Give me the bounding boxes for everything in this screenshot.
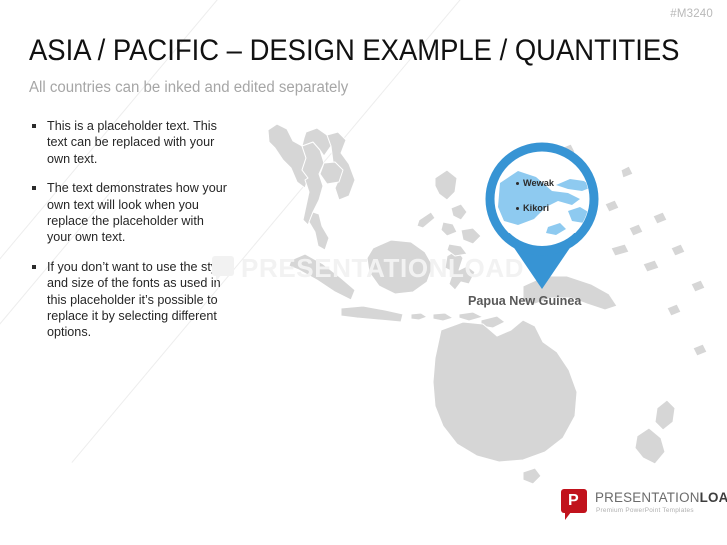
list-item-text: The text demonstrates how your own text … (47, 181, 227, 244)
asia-pacific-map[interactable] (205, 108, 727, 508)
bullet-square-icon (32, 124, 36, 128)
presentationload-logo[interactable]: P PRESENTATIONLOAD® Premium PowerPoint T… (561, 487, 721, 523)
city-label: Kikori (523, 203, 549, 213)
city-dot-icon (516, 182, 519, 185)
city-dot-icon (516, 207, 519, 210)
bullet-square-icon (32, 265, 36, 269)
city-marker-kikori[interactable]: Kikori (516, 203, 549, 213)
logo-wordmark: PRESENTATIONLOAD® (595, 490, 727, 505)
list-item-text: If you don’t want to use the style and s… (47, 260, 227, 340)
list-item[interactable]: If you don’t want to use the style and s… (31, 259, 227, 341)
country-label: Papua New Guinea (468, 294, 581, 308)
list-item-text: This is a placeholder text. This text ca… (47, 119, 217, 166)
bullet-list: This is a placeholder text. This text ca… (31, 118, 227, 354)
logo-tagline: Premium PowerPoint Templates (596, 507, 694, 514)
logo-mark-letter: P (568, 492, 579, 510)
page-title: ASIA / PACIFIC – DESIGN EXAMPLE / QUANTI… (29, 34, 679, 68)
logo-name-bold: LOAD (700, 490, 727, 505)
template-code: #M3240 (670, 8, 713, 20)
location-pin-marker[interactable]: Wewak Kikori (472, 137, 612, 295)
page-subtitle: All countries can be inked and edited se… (29, 79, 348, 97)
city-marker-wewak[interactable]: Wewak (516, 178, 554, 188)
logo-name-light: PRESENTATION (595, 490, 700, 505)
slide-canvas: #M3240 ASIA / PACIFIC – DESIGN EXAMPLE /… (0, 0, 727, 545)
list-item[interactable]: This is a placeholder text. This text ca… (31, 118, 227, 167)
city-label: Wewak (523, 178, 554, 188)
list-item[interactable]: The text demonstrates how your own text … (31, 180, 227, 246)
logo-speech-bubble-icon: P (561, 489, 587, 513)
bullet-square-icon (32, 186, 36, 190)
